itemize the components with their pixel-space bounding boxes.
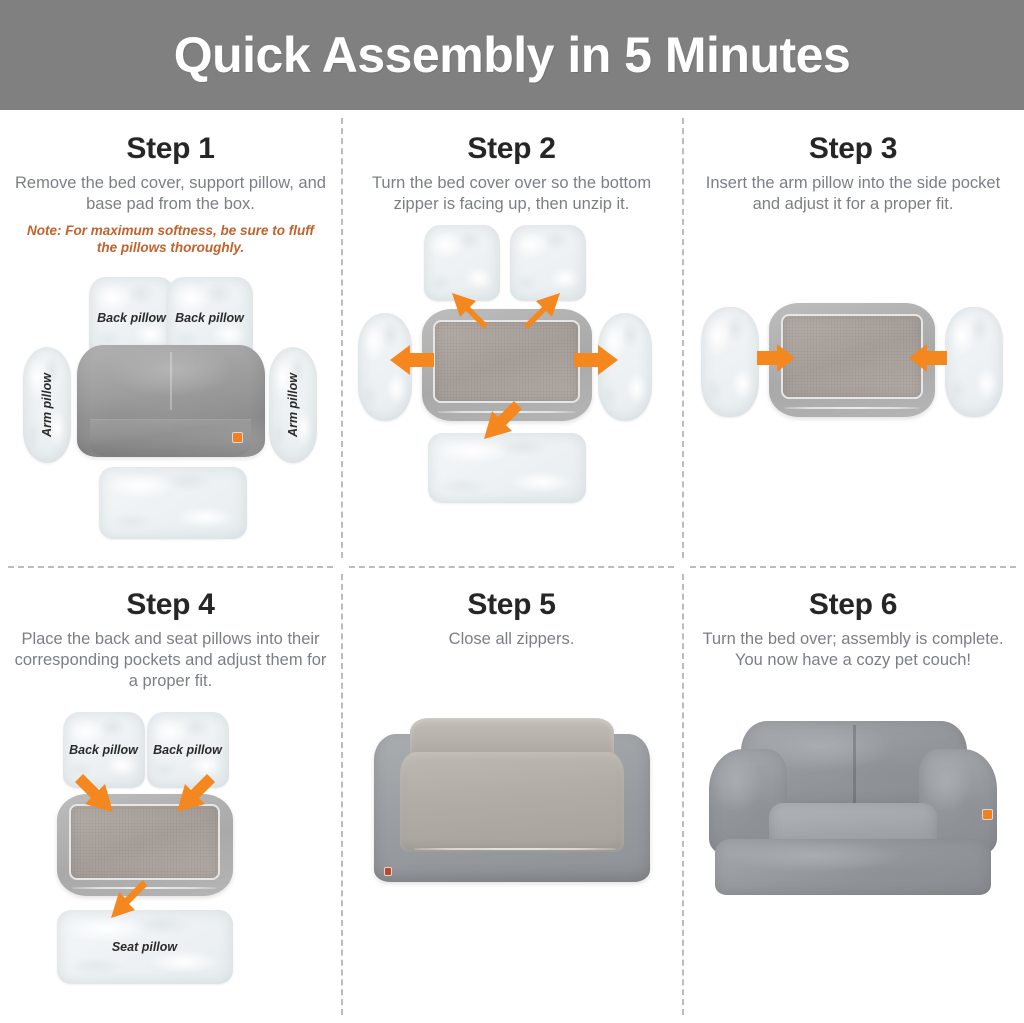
bed-cover xyxy=(77,345,265,457)
arm-pillow-left: Arm pillow xyxy=(23,347,71,463)
arm-pillow-left-label: Arm pillow xyxy=(40,373,54,437)
cover-inner-pocket xyxy=(781,314,924,398)
assembled-bed-upside-down xyxy=(374,734,650,882)
page-title: Quick Assembly in 5 Minutes xyxy=(174,26,851,84)
step-1-illustration: Back pillow Back pillow Arm pillow Arm p… xyxy=(11,263,331,566)
arrow-down-right-icon xyxy=(171,772,211,816)
brand-tag-icon xyxy=(982,809,993,820)
arrow-left-into-pocket-icon xyxy=(907,343,949,373)
step-4-title: Step 4 xyxy=(126,588,214,622)
arrow-up-right-icon xyxy=(520,281,572,329)
closed-zipper xyxy=(414,848,616,850)
brand-tag-icon xyxy=(232,432,243,443)
arm-pillow-right xyxy=(945,307,1003,417)
step-2-description: Turn the bed cover over so the bottom zi… xyxy=(353,173,670,215)
bottom-zipper xyxy=(784,407,920,409)
cover-seam xyxy=(170,352,172,410)
steps-grid: Step 1 Remove the bed cover, support pil… xyxy=(0,110,1024,1023)
step-1-description: Remove the bed cover, support pillow, an… xyxy=(12,173,329,215)
step-5-title: Step 5 xyxy=(467,588,555,622)
bed-underside-panel xyxy=(400,752,624,852)
arrow-left-icon xyxy=(388,343,438,377)
back-pillow-left-label: Back pillow xyxy=(63,743,145,757)
cover-flap xyxy=(90,419,252,457)
arm-pillow-right-label: Arm pillow xyxy=(286,373,300,437)
step-5-illustration xyxy=(352,656,672,1023)
step-3-illustration xyxy=(693,221,1013,566)
step-2-title: Step 2 xyxy=(467,132,555,166)
arm-pillow-right: Arm pillow xyxy=(269,347,317,463)
arrow-up-left-icon xyxy=(440,281,492,329)
step-1-title: Step 1 xyxy=(126,132,214,166)
step-4-illustration: Back pillow Back pillow Seat pillow xyxy=(11,698,331,1023)
back-pillow-left-label: Back pillow xyxy=(89,311,175,325)
arrow-right-into-pocket-icon xyxy=(755,343,797,373)
step-6-description: Turn the bed over; assembly is complete.… xyxy=(694,629,1012,671)
arrow-down-left-icon xyxy=(79,772,119,816)
seat-pillow-label: Seat pillow xyxy=(57,940,233,954)
step-2-illustration xyxy=(352,221,672,566)
back-pillow-right-label: Back pillow xyxy=(167,311,253,325)
step-5-description: Close all zippers. xyxy=(449,629,575,650)
arm-pillow-left xyxy=(701,307,759,417)
step-3-title: Step 3 xyxy=(809,132,897,166)
arrow-right-icon xyxy=(570,343,620,377)
step-6-title: Step 6 xyxy=(809,588,897,622)
step-6-illustration xyxy=(693,677,1013,1023)
step-1-note: Note: For maximum softness, be sure to f… xyxy=(21,222,321,257)
base-pad xyxy=(99,467,247,539)
step-panel-1: Step 1 Remove the bed cover, support pil… xyxy=(0,110,341,566)
brand-tag-icon xyxy=(384,867,392,876)
arrow-down-icon xyxy=(480,399,524,449)
step-panel-6: Step 6 Turn the bed over; assembly is co… xyxy=(682,566,1024,1023)
back-pillow-right-label: Back pillow xyxy=(147,743,229,757)
step-3-description: Insert the arm pillow into the side pock… xyxy=(694,173,1012,215)
couch-base xyxy=(715,839,991,895)
step-panel-2: Step 2 Turn the bed cover over so the bo… xyxy=(341,110,682,566)
step-panel-3: Step 3 Insert the arm pillow into the si… xyxy=(682,110,1024,566)
page-header: Quick Assembly in 5 Minutes xyxy=(0,0,1024,110)
backrest-seam xyxy=(853,725,856,803)
step-panel-4: Step 4 Place the back and seat pillows i… xyxy=(0,566,341,1023)
arrow-up-into-seat-icon xyxy=(107,884,151,928)
finished-pet-couch xyxy=(707,721,999,897)
cover-inner-pocket xyxy=(433,320,579,403)
step-panel-5: Step 5 Close all zippers. xyxy=(341,566,682,1023)
step-4-description: Place the back and seat pillows into the… xyxy=(12,629,329,692)
